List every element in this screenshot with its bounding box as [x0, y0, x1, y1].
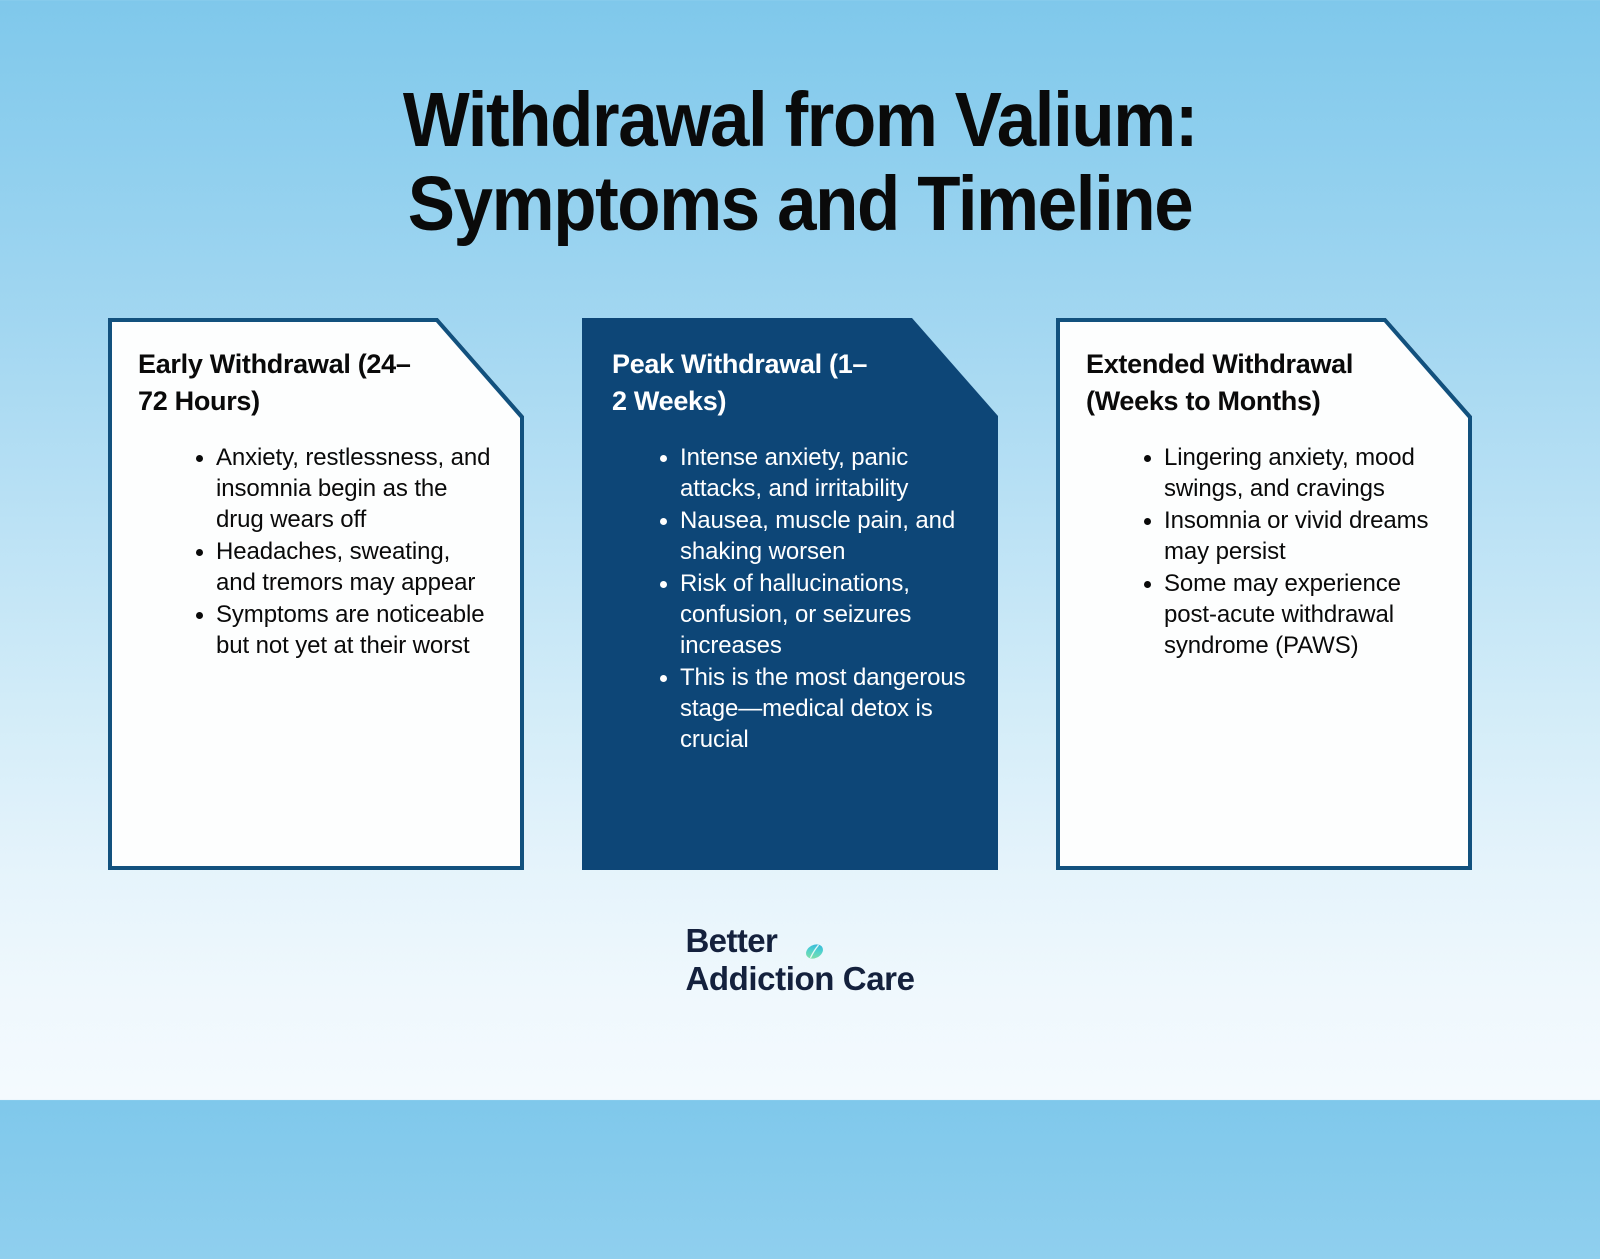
list-item: Headaches, sweating, and tremors may app… — [190, 536, 494, 598]
list-item: Symptoms are noticeable but not yet at t… — [190, 599, 494, 661]
card-bullet-list: Lingering anxiety, mood swings, and crav… — [1138, 442, 1442, 662]
list-item: Lingering anxiety, mood swings, and crav… — [1138, 442, 1442, 504]
card-early-withdrawal: Early Withdrawal (24–72 Hours) Anxiety, … — [108, 318, 524, 870]
list-item: Intense anxiety, panic attacks, and irri… — [654, 442, 968, 504]
card-heading: Peak Withdrawal (1–2 Weeks) — [612, 346, 877, 420]
logo-text-line-2: Addiction Care — [685, 960, 914, 998]
page-title-line-2: Symptoms and Timeline — [64, 162, 1536, 246]
list-item: Some may experience post-acute withdrawa… — [1138, 568, 1442, 661]
card-bullet-list: Intense anxiety, panic attacks, and irri… — [654, 442, 968, 756]
page-title: Withdrawal from Valium: Symptoms and Tim… — [0, 78, 1600, 246]
card-bullet-list: Anxiety, restlessness, and insomnia begi… — [190, 442, 494, 662]
list-item: Anxiety, restlessness, and insomnia begi… — [190, 442, 494, 535]
card-peak-withdrawal: Peak Withdrawal (1–2 Weeks) Intense anxi… — [582, 318, 998, 870]
page-title-line-1: Withdrawal from Valium: — [64, 78, 1536, 162]
card-extended-withdrawal: Extended Withdrawal (Weeks to Months) Li… — [1056, 318, 1472, 870]
list-item: This is the most dangerous stage—medical… — [654, 662, 968, 755]
card-heading: Early Withdrawal (24–72 Hours) — [138, 346, 438, 420]
card-heading: Extended Withdrawal (Weeks to Months) — [1086, 346, 1398, 420]
list-item: Insomnia or vivid dreams may persist — [1138, 505, 1442, 567]
card-accent-bar — [1130, 1149, 1462, 1165]
list-item: Nausea, muscle pain, and shaking worsen — [654, 505, 968, 567]
card-accent-bar — [186, 1149, 518, 1165]
card-accent-bar — [654, 1243, 986, 1259]
timeline-cards: Early Withdrawal (24–72 Hours) Anxiety, … — [108, 318, 1472, 870]
brand-logo: Better Addiction Care — [0, 922, 1600, 998]
logo-text-line-1: Better — [685, 922, 914, 960]
list-item: Risk of hallucinations, confusion, or se… — [654, 568, 968, 661]
